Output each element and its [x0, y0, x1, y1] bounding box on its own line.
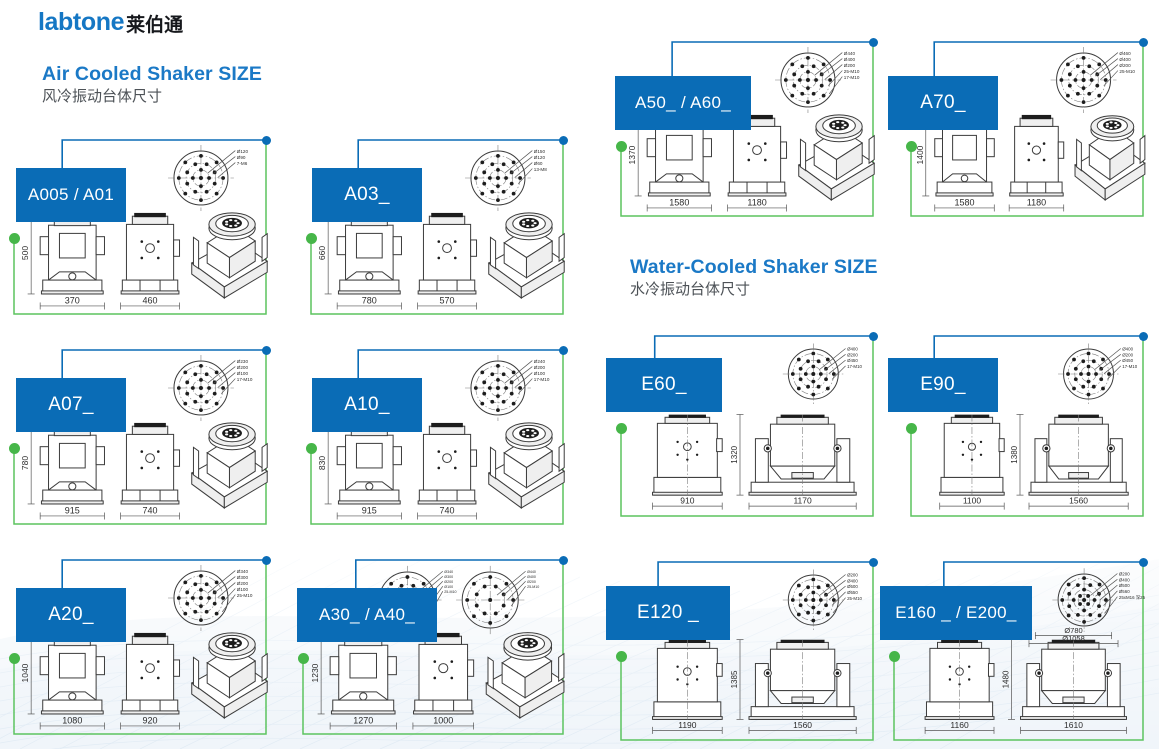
svg-text:Ø100: Ø100 — [237, 371, 249, 376]
product-card-a50-a60[interactable]: A50_ / A60_Ø440Ø400Ø20025-M1017-M1013701… — [615, 36, 883, 222]
svg-text:Ø240: Ø240 — [534, 359, 546, 364]
technical-drawing-a30-a40: Ø340Ø300Ø200Ø10025-M10Ø440Ø400Ø20025-M10… — [297, 554, 573, 740]
card-connector-dot-blue — [559, 136, 568, 145]
svg-text:Ø560: Ø560 — [1119, 589, 1130, 594]
card-label-e60[interactable]: E60_ — [606, 358, 722, 412]
product-card-a70[interactable]: A70_Ø460Ø400Ø20025-M10140015801180 — [905, 36, 1153, 222]
brand-name-latin: labtone — [38, 10, 124, 35]
svg-text:25-M10: 25-M10 — [844, 69, 860, 74]
brand-logo: labtone 莱伯通 — [38, 10, 183, 35]
svg-text:17-M10: 17-M10 — [1122, 364, 1137, 369]
svg-text:1580: 1580 — [669, 197, 689, 207]
card-label-e90[interactable]: E90_ — [888, 358, 998, 412]
svg-text:Ø400: Ø400 — [847, 578, 858, 583]
svg-text:Ø200: Ø200 — [1122, 352, 1133, 357]
svg-text:1270: 1270 — [353, 715, 373, 725]
product-card-e120[interactable]: E120 _Ø200Ø400Ø500Ø55025-M10138511901560 — [615, 556, 883, 746]
svg-text:Ø460: Ø460 — [1119, 51, 1131, 56]
svg-text:Ø100: Ø100 — [444, 585, 453, 589]
svg-text:Ø100: Ø100 — [534, 371, 546, 376]
card-connector-dot-blue — [1139, 558, 1148, 567]
technical-drawing-a10: Ø240Ø200Ø10017-M10830915740 — [305, 344, 573, 530]
svg-text:1170: 1170 — [793, 496, 812, 506]
svg-text:1180: 1180 — [1027, 197, 1046, 207]
card-connector-dot-blue — [262, 346, 271, 355]
svg-text:1560: 1560 — [793, 720, 812, 730]
svg-text:25-M10: 25-M10 — [847, 596, 862, 601]
svg-text:17-M10: 17-M10 — [237, 377, 253, 382]
card-label-a70[interactable]: A70_ — [888, 76, 998, 130]
svg-text:Ø200: Ø200 — [444, 580, 453, 584]
svg-text:Ø550: Ø550 — [847, 590, 858, 595]
svg-text:1180: 1180 — [747, 197, 766, 207]
technical-drawing-e120: Ø200Ø400Ø500Ø55025-M10138511901560 — [615, 556, 883, 746]
svg-text:1230: 1230 — [310, 663, 320, 682]
technical-drawing-a03: Ø150Ø120Ø6013-M8660780570 — [305, 134, 573, 320]
svg-text:Ø120: Ø120 — [534, 155, 546, 160]
svg-text:Ø90: Ø90 — [237, 155, 246, 160]
svg-text:1190: 1190 — [678, 720, 697, 730]
svg-text:1580: 1580 — [955, 197, 975, 207]
svg-text:Ø440: Ø440 — [844, 51, 856, 56]
card-connector-dot-blue — [869, 332, 878, 341]
svg-text:Ø100: Ø100 — [237, 587, 249, 592]
product-card-a07[interactable]: A07_Ø230Ø200Ø10017-M10780915740 — [8, 344, 276, 530]
brand-name-chinese: 莱伯通 — [126, 16, 183, 35]
svg-text:13-M8: 13-M8 — [534, 167, 547, 172]
svg-text:Ø200: Ø200 — [1119, 63, 1131, 68]
svg-text:Ø400: Ø400 — [1119, 57, 1131, 62]
svg-text:740: 740 — [143, 505, 158, 515]
card-label-a30-a40[interactable]: A30_ / A40_ — [297, 588, 437, 642]
svg-text:780: 780 — [20, 456, 30, 470]
svg-text:Ø200: Ø200 — [527, 580, 536, 584]
svg-text:17-M10: 17-M10 — [844, 75, 860, 80]
card-connector-dot-blue — [869, 558, 878, 567]
card-connector-dot-green — [306, 443, 317, 454]
svg-text:Ø400: Ø400 — [847, 347, 858, 352]
svg-text:Ø450: Ø450 — [1122, 358, 1133, 363]
svg-text:1000: 1000 — [433, 715, 453, 725]
svg-text:660: 660 — [317, 246, 327, 260]
card-label-a005-a01[interactable]: A005 / A01 — [16, 168, 126, 222]
svg-text:500: 500 — [20, 246, 30, 260]
svg-text:370: 370 — [65, 295, 80, 305]
card-connector-dot-green — [616, 651, 627, 662]
svg-text:Ø400: Ø400 — [527, 575, 536, 579]
technical-drawing-a07: Ø230Ø200Ø10017-M10780915740 — [8, 344, 276, 530]
product-card-a30-a40[interactable]: A30_ / A40_Ø340Ø300Ø200Ø10025-M10Ø440Ø40… — [297, 554, 573, 740]
svg-text:Ø200: Ø200 — [237, 581, 249, 586]
technical-drawing-a20: Ø340Ø300Ø200Ø10025-M1010401080920 — [8, 554, 276, 740]
svg-text:Ø200: Ø200 — [534, 365, 546, 370]
card-connector-dot-green — [906, 141, 917, 152]
svg-text:25xM16 深25: 25xM16 深25 — [1119, 594, 1146, 601]
product-card-e160-e200[interactable]: E160 _ / E200_Ø200Ø400Ø500Ø56025xM16 深25… — [888, 556, 1153, 746]
technical-drawing-a005-a01: Ø120Ø907-M6500370460 — [8, 134, 276, 320]
card-connector-dot-green — [306, 233, 317, 244]
svg-text:Ø200: Ø200 — [847, 352, 858, 357]
card-connector-dot-green — [616, 141, 627, 152]
svg-text:Ø230: Ø230 — [237, 359, 249, 364]
technical-drawing-e160-e200: Ø200Ø400Ø500Ø56025xM16 深25148011601610Ø7… — [888, 556, 1153, 746]
card-connector-dot-green — [906, 423, 917, 434]
product-card-a10[interactable]: A10_Ø240Ø200Ø10017-M10830915740 — [305, 344, 573, 530]
svg-text:25-M10: 25-M10 — [1119, 69, 1135, 74]
card-connector-dot-green — [889, 651, 900, 662]
svg-text:Ø200: Ø200 — [844, 63, 856, 68]
svg-text:1380: 1380 — [1010, 445, 1019, 463]
svg-text:Ø500: Ø500 — [847, 584, 858, 589]
card-connector-dot-blue — [559, 346, 568, 355]
svg-text:Ø120: Ø120 — [237, 149, 249, 154]
svg-text:25-M10: 25-M10 — [237, 593, 253, 598]
svg-text:17-M10: 17-M10 — [847, 364, 862, 369]
svg-text:7-M6: 7-M6 — [237, 161, 248, 166]
section-title-en: Air Cooled Shaker SIZE — [42, 62, 262, 86]
card-connector-dot-blue — [262, 136, 271, 145]
card-connector-dot-blue — [869, 38, 878, 47]
card-connector-dot-green — [9, 233, 20, 244]
svg-text:Ø200: Ø200 — [1119, 572, 1130, 577]
svg-text:Ø60: Ø60 — [534, 161, 543, 166]
card-connector-dot-blue — [1139, 332, 1148, 341]
svg-text:1370: 1370 — [627, 145, 637, 164]
card-label-e120[interactable]: E120 _ — [606, 586, 730, 640]
svg-text:910: 910 — [680, 496, 694, 506]
card-label-a03[interactable]: A03_ — [312, 168, 422, 222]
svg-text:1320: 1320 — [730, 445, 739, 463]
svg-text:25-M10: 25-M10 — [444, 590, 456, 594]
section-title-cn: 水冷振动台体尺寸 — [630, 281, 878, 300]
svg-text:1560: 1560 — [1069, 496, 1088, 506]
svg-text:Ø400: Ø400 — [844, 57, 856, 62]
card-label-a50-a60[interactable]: A50_ / A60_ — [615, 76, 751, 130]
card-connector-dot-blue — [262, 556, 271, 565]
svg-text:830: 830 — [317, 456, 327, 470]
card-connector-dot-blue — [1139, 38, 1148, 47]
svg-text:Ø300: Ø300 — [237, 575, 249, 580]
svg-text:Ø300: Ø300 — [444, 575, 453, 579]
section-title-en: Water-Cooled Shaker SIZE — [630, 255, 878, 279]
svg-text:Ø150: Ø150 — [534, 149, 546, 154]
card-connector-dot-green — [298, 653, 309, 664]
svg-text:780: 780 — [362, 295, 377, 305]
card-label-a10[interactable]: A10_ — [312, 378, 422, 432]
svg-text:Ø400: Ø400 — [1122, 347, 1133, 352]
svg-text:460: 460 — [143, 295, 158, 305]
product-card-a03[interactable]: A03_Ø150Ø120Ø6013-M8660780570 — [305, 134, 573, 320]
svg-text:Ø200: Ø200 — [847, 573, 858, 578]
section-heading-air-cooled: Air Cooled Shaker SIZE 风冷振动台体尺寸 — [42, 62, 262, 107]
product-card-a20[interactable]: A20_Ø340Ø300Ø200Ø10025-M1010401080920 — [8, 554, 276, 740]
product-card-a005-a01[interactable]: A005 / A01Ø120Ø907-M6500370460 — [8, 134, 276, 320]
svg-text:Ø340: Ø340 — [237, 569, 249, 574]
svg-text:740: 740 — [440, 505, 455, 515]
svg-text:Ø200: Ø200 — [237, 365, 249, 370]
svg-text:1080: 1080 — [62, 715, 82, 725]
svg-text:1040: 1040 — [20, 663, 30, 682]
svg-text:17-M10: 17-M10 — [534, 377, 550, 382]
section-title-cn: 风冷振动台体尺寸 — [42, 88, 262, 107]
svg-text:920: 920 — [143, 715, 158, 725]
card-connector-dot-green — [9, 653, 20, 664]
section-heading-water-cooled: Water-Cooled Shaker SIZE 水冷振动台体尺寸 — [630, 255, 878, 300]
card-label-e160-e200[interactable]: E160 _ / E200_ — [880, 586, 1032, 640]
svg-text:1385: 1385 — [730, 670, 739, 688]
card-connector-dot-green — [9, 443, 20, 454]
product-card-e60[interactable]: E60_Ø400Ø200Ø45017-M1013209101170 — [615, 330, 883, 522]
card-connector-dot-green — [616, 423, 627, 434]
card-label-a07[interactable]: A07_ — [16, 378, 126, 432]
svg-text:915: 915 — [65, 505, 80, 515]
svg-text:915: 915 — [362, 505, 377, 515]
svg-text:1480: 1480 — [1002, 670, 1011, 688]
svg-text:Ø450: Ø450 — [847, 358, 858, 363]
svg-text:25-M10: 25-M10 — [527, 585, 539, 589]
svg-text:Ø400: Ø400 — [1119, 577, 1130, 582]
card-connector-dot-blue — [559, 556, 568, 565]
svg-text:Ø1058: Ø1058 — [1062, 634, 1085, 643]
svg-text:Ø500: Ø500 — [1119, 583, 1130, 588]
svg-text:1160: 1160 — [950, 720, 969, 730]
svg-text:570: 570 — [440, 295, 455, 305]
svg-text:Ø340: Ø340 — [444, 570, 453, 574]
svg-text:1610: 1610 — [1064, 720, 1083, 730]
product-card-e90[interactable]: E90_Ø400Ø200Ø45017-M10138011001560 — [905, 330, 1153, 522]
svg-text:Ø440: Ø440 — [527, 570, 536, 574]
svg-text:1100: 1100 — [963, 496, 982, 506]
card-label-a20[interactable]: A20_ — [16, 588, 126, 642]
